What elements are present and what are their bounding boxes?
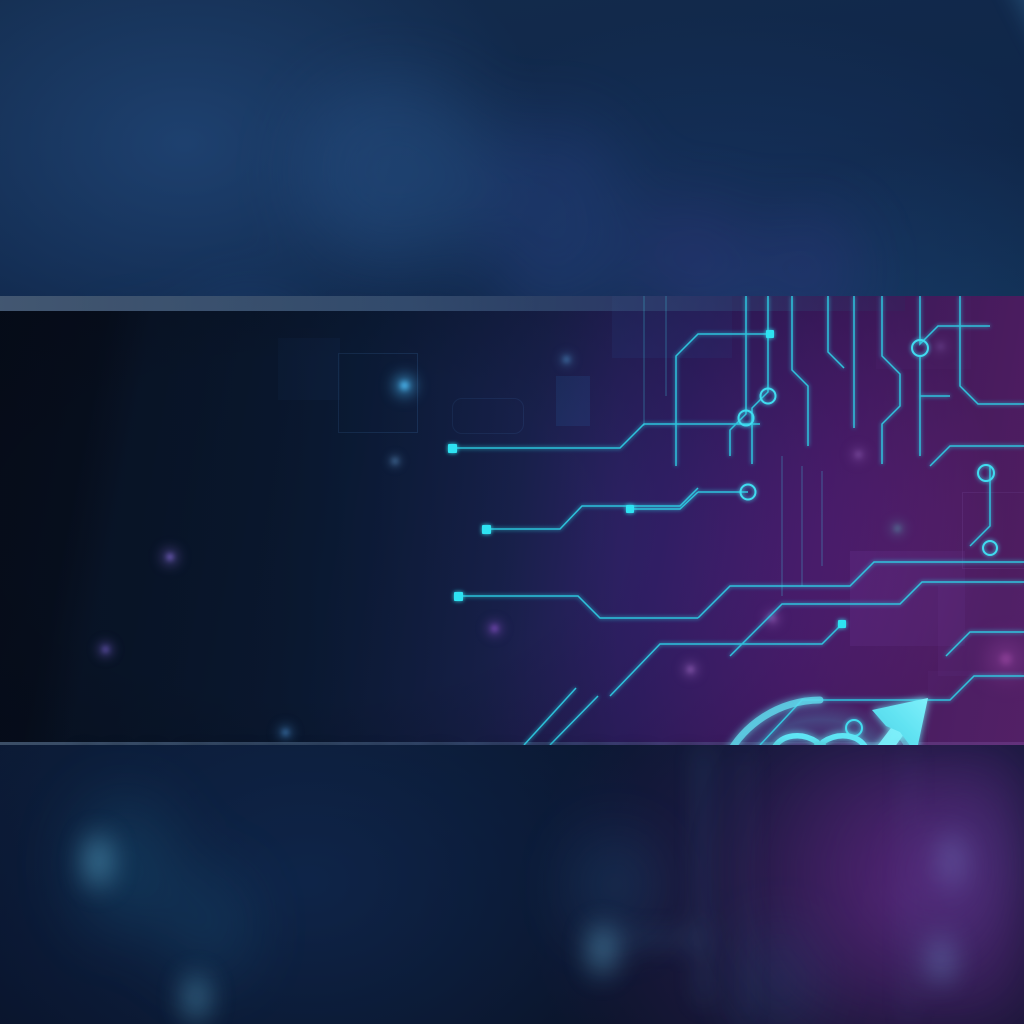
background-purple-glow: [594, 745, 1024, 1024]
hero-banner: MASTERING RESPONSE STRATEGIES FOR SUCCES…: [0, 296, 1024, 745]
glow-dot: [393, 459, 397, 463]
banner-text-block: MASTERING RESPONSE STRATEGIES FOR SUCCES…: [74, 736, 911, 745]
banner-left-wedge: [0, 296, 175, 745]
glow-dot: [400, 381, 409, 390]
page-title: MASTERING RESPONSE: [74, 736, 844, 745]
glow-dot: [167, 554, 173, 560]
glow-dot: [103, 647, 108, 652]
banner-page: MASTERING RESPONSE STRATEGIES FOR SUCCES…: [0, 0, 1024, 1024]
